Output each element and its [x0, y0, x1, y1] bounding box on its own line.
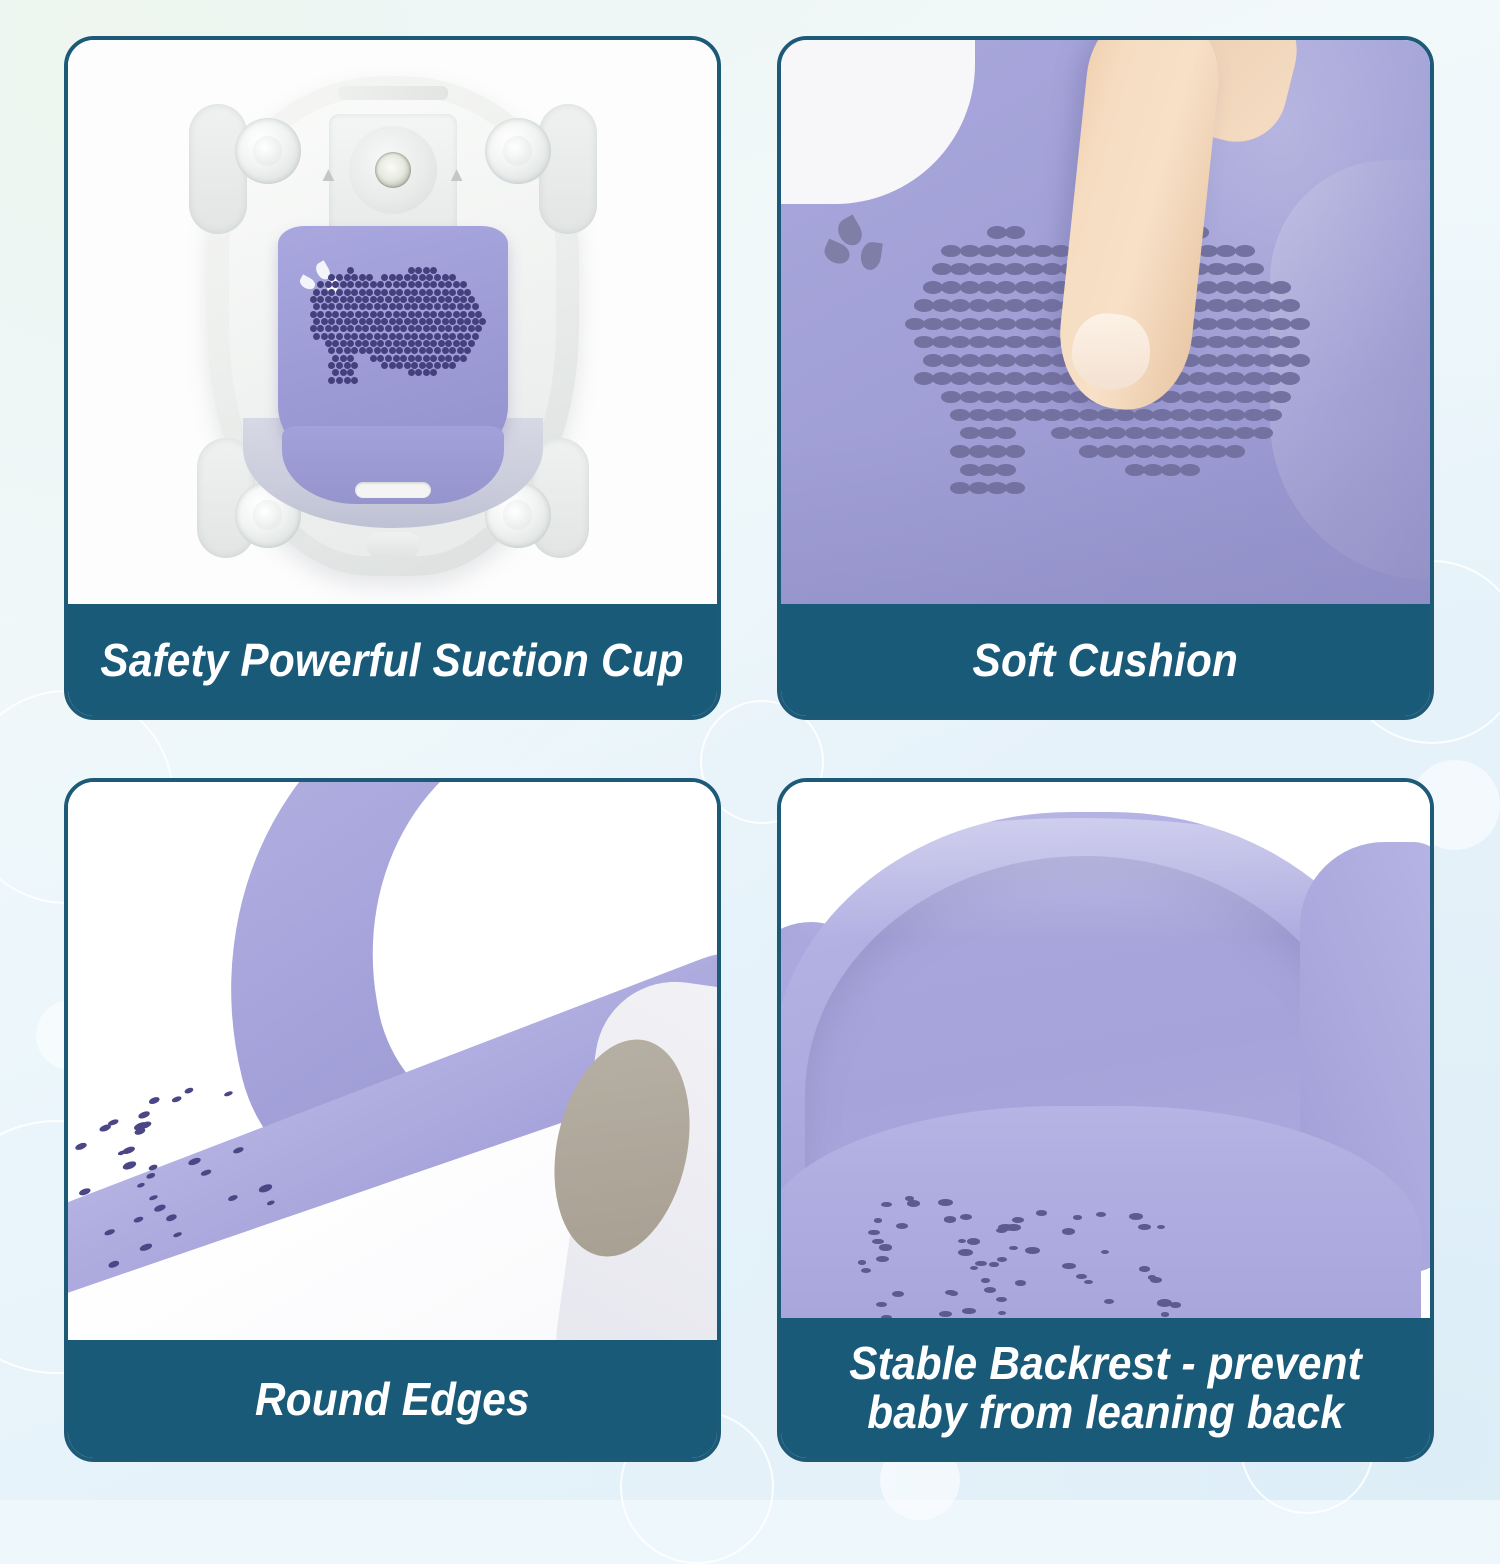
pattern-dot — [146, 1172, 156, 1179]
pattern-dot — [415, 325, 422, 332]
pattern-dot — [423, 311, 430, 318]
seat-drain-slot — [355, 482, 431, 498]
pattern-dot — [370, 325, 377, 332]
pattern-dot — [374, 303, 381, 310]
panel-suction-cup[interactable]: ▲ ▲ — [64, 36, 721, 720]
pattern-dot — [366, 318, 373, 325]
pattern-dot — [374, 347, 381, 354]
pattern-dot — [950, 372, 970, 384]
pattern-dot — [438, 281, 445, 288]
pattern-dot — [385, 311, 392, 318]
pattern-dot — [1143, 427, 1163, 439]
pattern-dot — [377, 325, 384, 332]
round-edges-photo — [68, 782, 717, 1348]
pattern-dot — [881, 1202, 892, 1208]
pattern-dot — [411, 347, 418, 354]
fingernail — [1068, 310, 1154, 394]
pattern-dot — [449, 274, 456, 281]
pattern-dot — [1244, 372, 1264, 384]
pattern-dot — [950, 409, 970, 421]
pattern-dot — [325, 325, 332, 332]
pattern-dot — [996, 245, 1016, 257]
pattern-dot — [460, 281, 467, 288]
pattern-dot — [1207, 263, 1227, 275]
pattern-dot — [1157, 1225, 1166, 1229]
pattern-dot — [1062, 1228, 1075, 1235]
pattern-dot — [389, 318, 396, 325]
pattern-dot — [1207, 336, 1227, 348]
pattern-dot — [1012, 1217, 1024, 1223]
pattern-dot — [941, 318, 961, 330]
pattern-dot — [408, 355, 415, 362]
pattern-dot — [393, 340, 400, 347]
pattern-dot — [464, 303, 471, 310]
pattern-dot — [381, 289, 388, 296]
pattern-dot — [981, 1278, 991, 1283]
pattern-dot — [464, 333, 471, 340]
pattern-dot — [460, 340, 467, 347]
pattern-dot — [411, 333, 418, 340]
pattern-dot — [998, 1311, 1007, 1315]
pattern-dot — [958, 1239, 966, 1243]
pattern-dot — [460, 311, 467, 318]
pattern-dot — [960, 464, 980, 476]
pattern-dot — [1079, 409, 1099, 421]
pattern-dot — [923, 318, 943, 330]
pattern-dot — [370, 281, 377, 288]
caption-line: Safety Powerful Suction Cup — [101, 636, 684, 685]
pattern-dot — [949, 1291, 959, 1296]
pattern-dot — [355, 311, 362, 318]
pattern-dot — [172, 1231, 182, 1238]
pattern-dot — [1024, 263, 1044, 275]
panel-soft-cushion[interactable]: Soft Cushion — [777, 36, 1434, 720]
pattern-dot — [332, 296, 339, 303]
pattern-dot — [1152, 445, 1172, 457]
pattern-dot — [426, 347, 433, 354]
pattern-dot — [453, 296, 460, 303]
pattern-dot — [408, 340, 415, 347]
pattern-dot — [468, 325, 475, 332]
pattern-dot — [1025, 1247, 1039, 1254]
drainage-dots-icon — [851, 1196, 1181, 1316]
pattern-dot — [1244, 336, 1264, 348]
pattern-dot — [1125, 427, 1145, 439]
pattern-dot — [923, 354, 943, 366]
pattern-dot — [1060, 409, 1080, 421]
pattern-dot — [1262, 336, 1282, 348]
pattern-dot — [184, 1087, 194, 1095]
pattern-dot — [404, 289, 411, 296]
pattern-dot — [969, 409, 989, 421]
pattern-dot — [1244, 409, 1264, 421]
pattern-dot — [932, 336, 952, 348]
pattern-dot — [1097, 445, 1117, 457]
suction-cup-photo: ▲ ▲ — [68, 40, 717, 612]
pattern-dot — [404, 347, 411, 354]
pattern-dot — [430, 355, 437, 362]
pattern-dot — [987, 299, 1007, 311]
pattern-dot — [415, 311, 422, 318]
pattern-dot — [969, 336, 989, 348]
pattern-dot — [426, 362, 433, 369]
pattern-dot — [984, 1287, 996, 1293]
pattern-dot — [453, 311, 460, 318]
infographic-canvas: ▲ ▲ — [0, 0, 1500, 1500]
pattern-dot — [400, 340, 407, 347]
pattern-dot — [434, 362, 441, 369]
pattern-dot — [344, 377, 351, 384]
pattern-dot — [104, 1228, 116, 1237]
pattern-dot — [434, 289, 441, 296]
pattern-dot — [1096, 1212, 1106, 1217]
pattern-dot — [932, 263, 952, 275]
panel-stable-backrest[interactable]: Stable Backrest - prevent baby from lean… — [777, 778, 1434, 1462]
pattern-dot — [987, 263, 1007, 275]
pattern-dot — [258, 1182, 273, 1193]
pattern-dot — [233, 1146, 245, 1155]
pattern-dot — [344, 318, 351, 325]
pattern-dot — [377, 340, 384, 347]
pattern-dot — [861, 1268, 871, 1273]
pattern-dot — [1207, 299, 1227, 311]
pattern-dot — [381, 333, 388, 340]
pattern-dot — [1139, 1266, 1150, 1272]
pattern-dot — [1253, 427, 1273, 439]
pattern-dot — [438, 325, 445, 332]
pattern-dot — [336, 347, 343, 354]
pattern-dot — [1216, 318, 1236, 330]
pattern-dot — [1225, 445, 1245, 457]
pattern-dot — [404, 333, 411, 340]
pattern-dot — [1024, 336, 1044, 348]
pattern-dot — [1042, 263, 1062, 275]
pattern-dot — [442, 347, 449, 354]
pattern-dot — [442, 318, 449, 325]
suction-lock-knob-icon — [349, 126, 437, 214]
pattern-dot — [423, 267, 430, 274]
pattern-dot — [1024, 372, 1044, 384]
pattern-dot — [340, 369, 347, 376]
pattern-dot — [187, 1156, 201, 1166]
pattern-dot — [389, 347, 396, 354]
pattern-dot — [228, 1194, 239, 1202]
pattern-dot — [1253, 354, 1273, 366]
pattern-dot — [1180, 427, 1200, 439]
pattern-dot — [404, 362, 411, 369]
pattern-dot — [347, 355, 354, 362]
pattern-dot — [344, 333, 351, 340]
pattern-dot — [411, 274, 418, 281]
pattern-dot — [78, 1187, 91, 1197]
pattern-dot — [975, 1261, 986, 1267]
pattern-dot — [987, 445, 1007, 457]
pattern-dot — [876, 1302, 887, 1307]
pattern-dot — [1015, 391, 1035, 403]
pattern-dot — [1216, 354, 1236, 366]
pattern-dot — [385, 325, 392, 332]
pattern-dot — [442, 289, 449, 296]
pattern-dot — [868, 1230, 879, 1236]
pattern-dot — [396, 362, 403, 369]
pattern-dot — [336, 333, 343, 340]
pattern-dot — [914, 336, 934, 348]
pattern-dot — [1235, 427, 1255, 439]
pattern-dot — [393, 325, 400, 332]
pattern-dot — [370, 355, 377, 362]
pattern-dot — [1262, 372, 1282, 384]
pattern-dot — [385, 355, 392, 362]
pattern-dot — [1170, 1302, 1181, 1308]
pattern-dot — [445, 340, 452, 347]
pattern-dot — [1015, 354, 1035, 366]
arrow-up-icon: ▲ — [319, 164, 339, 187]
panel-round-edges[interactable]: Round Edges — [64, 778, 721, 1462]
pattern-dot — [317, 311, 324, 318]
pattern-dot — [1271, 391, 1291, 403]
pattern-dot — [941, 391, 961, 403]
pattern-dot — [1070, 427, 1090, 439]
pattern-dot — [445, 311, 452, 318]
pattern-dot — [1042, 336, 1062, 348]
pattern-dot — [960, 391, 980, 403]
pattern-dot — [332, 340, 339, 347]
pattern-dot — [359, 333, 366, 340]
pattern-dot — [1015, 1280, 1026, 1285]
pattern-dot — [464, 318, 471, 325]
pattern-dot — [1051, 391, 1071, 403]
pattern-dot — [1235, 354, 1255, 366]
pattern-dot — [987, 409, 1007, 421]
pattern-dot — [1198, 318, 1218, 330]
pattern-dot — [347, 296, 354, 303]
pattern-dot — [310, 311, 317, 318]
pattern-dot — [419, 303, 426, 310]
pattern-dot — [1235, 245, 1255, 257]
pattern-dot — [328, 333, 335, 340]
pattern-dot — [449, 362, 456, 369]
pattern-dot — [351, 377, 358, 384]
bath-seat-underside: ▲ ▲ — [207, 76, 579, 576]
pattern-dot — [987, 226, 1007, 238]
pattern-dot — [438, 296, 445, 303]
pattern-dot — [969, 299, 989, 311]
pattern-dot — [408, 325, 415, 332]
pattern-dot — [879, 1244, 891, 1250]
pattern-dot — [457, 347, 464, 354]
pattern-dot — [377, 311, 384, 318]
pattern-dot — [419, 318, 426, 325]
pattern-dot — [321, 318, 328, 325]
pattern-dot — [411, 318, 418, 325]
pattern-dot — [415, 355, 422, 362]
pattern-dot — [969, 372, 989, 384]
pattern-dot — [351, 289, 358, 296]
pattern-dot — [423, 296, 430, 303]
pattern-dot — [464, 289, 471, 296]
seat-top-tabs — [338, 86, 448, 100]
pattern-dot — [978, 281, 998, 293]
pattern-dot — [970, 1266, 978, 1270]
pattern-dot — [389, 303, 396, 310]
pattern-dot — [138, 1110, 151, 1119]
caption-line: Stable Backrest - prevent — [849, 1339, 1362, 1388]
pattern-dot — [148, 1164, 158, 1172]
pattern-dot — [874, 1218, 883, 1222]
pattern-dot — [396, 318, 403, 325]
pattern-dot — [430, 267, 437, 274]
pattern-dot — [426, 333, 433, 340]
pattern-dot — [393, 296, 400, 303]
pattern-dot — [148, 1194, 158, 1202]
pattern-dot — [1005, 372, 1025, 384]
pattern-dot — [960, 245, 980, 257]
pattern-dot — [332, 281, 339, 288]
pattern-dot — [423, 369, 430, 376]
pattern-dot — [438, 355, 445, 362]
pattern-dot — [1161, 464, 1181, 476]
pattern-dot — [362, 340, 369, 347]
pattern-dot — [896, 1223, 909, 1229]
pattern-dot — [1216, 281, 1236, 293]
caption-line: baby from leaning back — [849, 1388, 1362, 1437]
pattern-dot — [374, 289, 381, 296]
pattern-dot — [355, 340, 362, 347]
pattern-dot — [317, 296, 324, 303]
pattern-dot — [905, 318, 925, 330]
pattern-dot — [328, 347, 335, 354]
pattern-dot — [1280, 299, 1300, 311]
pattern-dot — [336, 377, 343, 384]
pattern-dot — [423, 281, 430, 288]
pattern-dot — [1024, 299, 1044, 311]
pattern-dot — [1271, 318, 1291, 330]
pattern-dot — [393, 311, 400, 318]
pattern-dot — [1161, 427, 1181, 439]
pattern-dot — [310, 296, 317, 303]
pattern-dot — [419, 333, 426, 340]
pattern-dot — [978, 354, 998, 366]
pattern-dot — [449, 289, 456, 296]
pattern-dot — [950, 263, 970, 275]
pattern-dot — [1189, 409, 1209, 421]
pattern-dot — [366, 347, 373, 354]
pattern-dot — [438, 311, 445, 318]
pattern-dot — [914, 372, 934, 384]
pattern-dot — [374, 318, 381, 325]
caption-line: Soft Cushion — [973, 636, 1238, 685]
soft-cushion-photo — [781, 40, 1430, 612]
pattern-dot — [400, 325, 407, 332]
pattern-dot — [1225, 263, 1245, 275]
pattern-dot — [344, 362, 351, 369]
pattern-dot — [1225, 409, 1245, 421]
pattern-dot — [969, 263, 989, 275]
pattern-dot — [950, 445, 970, 457]
pattern-dot — [960, 354, 980, 366]
pattern-dot — [907, 1200, 921, 1207]
pattern-dot — [1076, 1274, 1087, 1279]
caption-soft-cushion: Soft Cushion — [781, 604, 1430, 716]
pattern-dot — [321, 333, 328, 340]
pattern-dot — [453, 281, 460, 288]
pattern-dot — [960, 318, 980, 330]
pattern-dot — [359, 274, 366, 281]
pattern-dot — [411, 362, 418, 369]
pattern-dot — [438, 340, 445, 347]
pattern-dot — [978, 245, 998, 257]
caption-suction-cup: Safety Powerful Suction Cup — [68, 604, 717, 716]
pattern-dot — [449, 347, 456, 354]
pattern-dot — [1189, 372, 1209, 384]
pattern-dot — [950, 482, 970, 494]
pattern-dot — [344, 347, 351, 354]
pattern-dot — [1033, 391, 1053, 403]
pattern-dot — [133, 1215, 145, 1223]
pattern-dot — [340, 311, 347, 318]
pattern-dot — [224, 1091, 233, 1098]
pattern-dot — [313, 333, 320, 340]
pattern-dot — [415, 281, 422, 288]
pattern-dot — [941, 354, 961, 366]
pattern-dot — [370, 311, 377, 318]
pattern-dot — [905, 1196, 914, 1200]
pattern-dot — [408, 281, 415, 288]
pattern-dot — [411, 303, 418, 310]
pattern-dot — [1235, 391, 1255, 403]
pattern-dot — [1216, 245, 1236, 257]
pattern-dot — [457, 289, 464, 296]
pattern-dot — [393, 355, 400, 362]
pattern-dot — [419, 274, 426, 281]
pattern-dot — [362, 325, 369, 332]
pattern-dot — [366, 303, 373, 310]
arrow-up-icon: ▲ — [447, 164, 467, 187]
pattern-dot — [1134, 445, 1154, 457]
pattern-dot — [347, 281, 354, 288]
pattern-dot — [442, 362, 449, 369]
pattern-dot — [1088, 427, 1108, 439]
pattern-dot — [385, 340, 392, 347]
pattern-dot — [950, 299, 970, 311]
pattern-dot — [1009, 1246, 1018, 1250]
pattern-dot — [987, 482, 1007, 494]
pattern-dot — [1198, 427, 1218, 439]
pattern-dot — [404, 274, 411, 281]
pattern-dot — [415, 369, 422, 376]
pattern-dot — [479, 318, 486, 325]
pattern-dot — [1170, 445, 1190, 457]
suction-cup-icon — [485, 118, 551, 184]
pattern-dot — [1101, 1250, 1109, 1254]
pattern-dot — [415, 296, 422, 303]
pattern-dot — [941, 281, 961, 293]
pattern-dot — [996, 354, 1016, 366]
pattern-dot — [1006, 1224, 1020, 1231]
pattern-dot — [923, 281, 943, 293]
caption-line: Round Edges — [255, 1375, 530, 1424]
pattern-dot — [1235, 281, 1255, 293]
pattern-dot — [370, 296, 377, 303]
pattern-dot — [472, 318, 479, 325]
pattern-dot — [996, 318, 1016, 330]
pattern-dot — [1005, 482, 1025, 494]
pattern-dot — [1271, 354, 1291, 366]
pattern-dot — [370, 340, 377, 347]
pattern-dot — [1290, 354, 1310, 366]
pattern-dot — [332, 355, 339, 362]
pattern-dot — [434, 318, 441, 325]
